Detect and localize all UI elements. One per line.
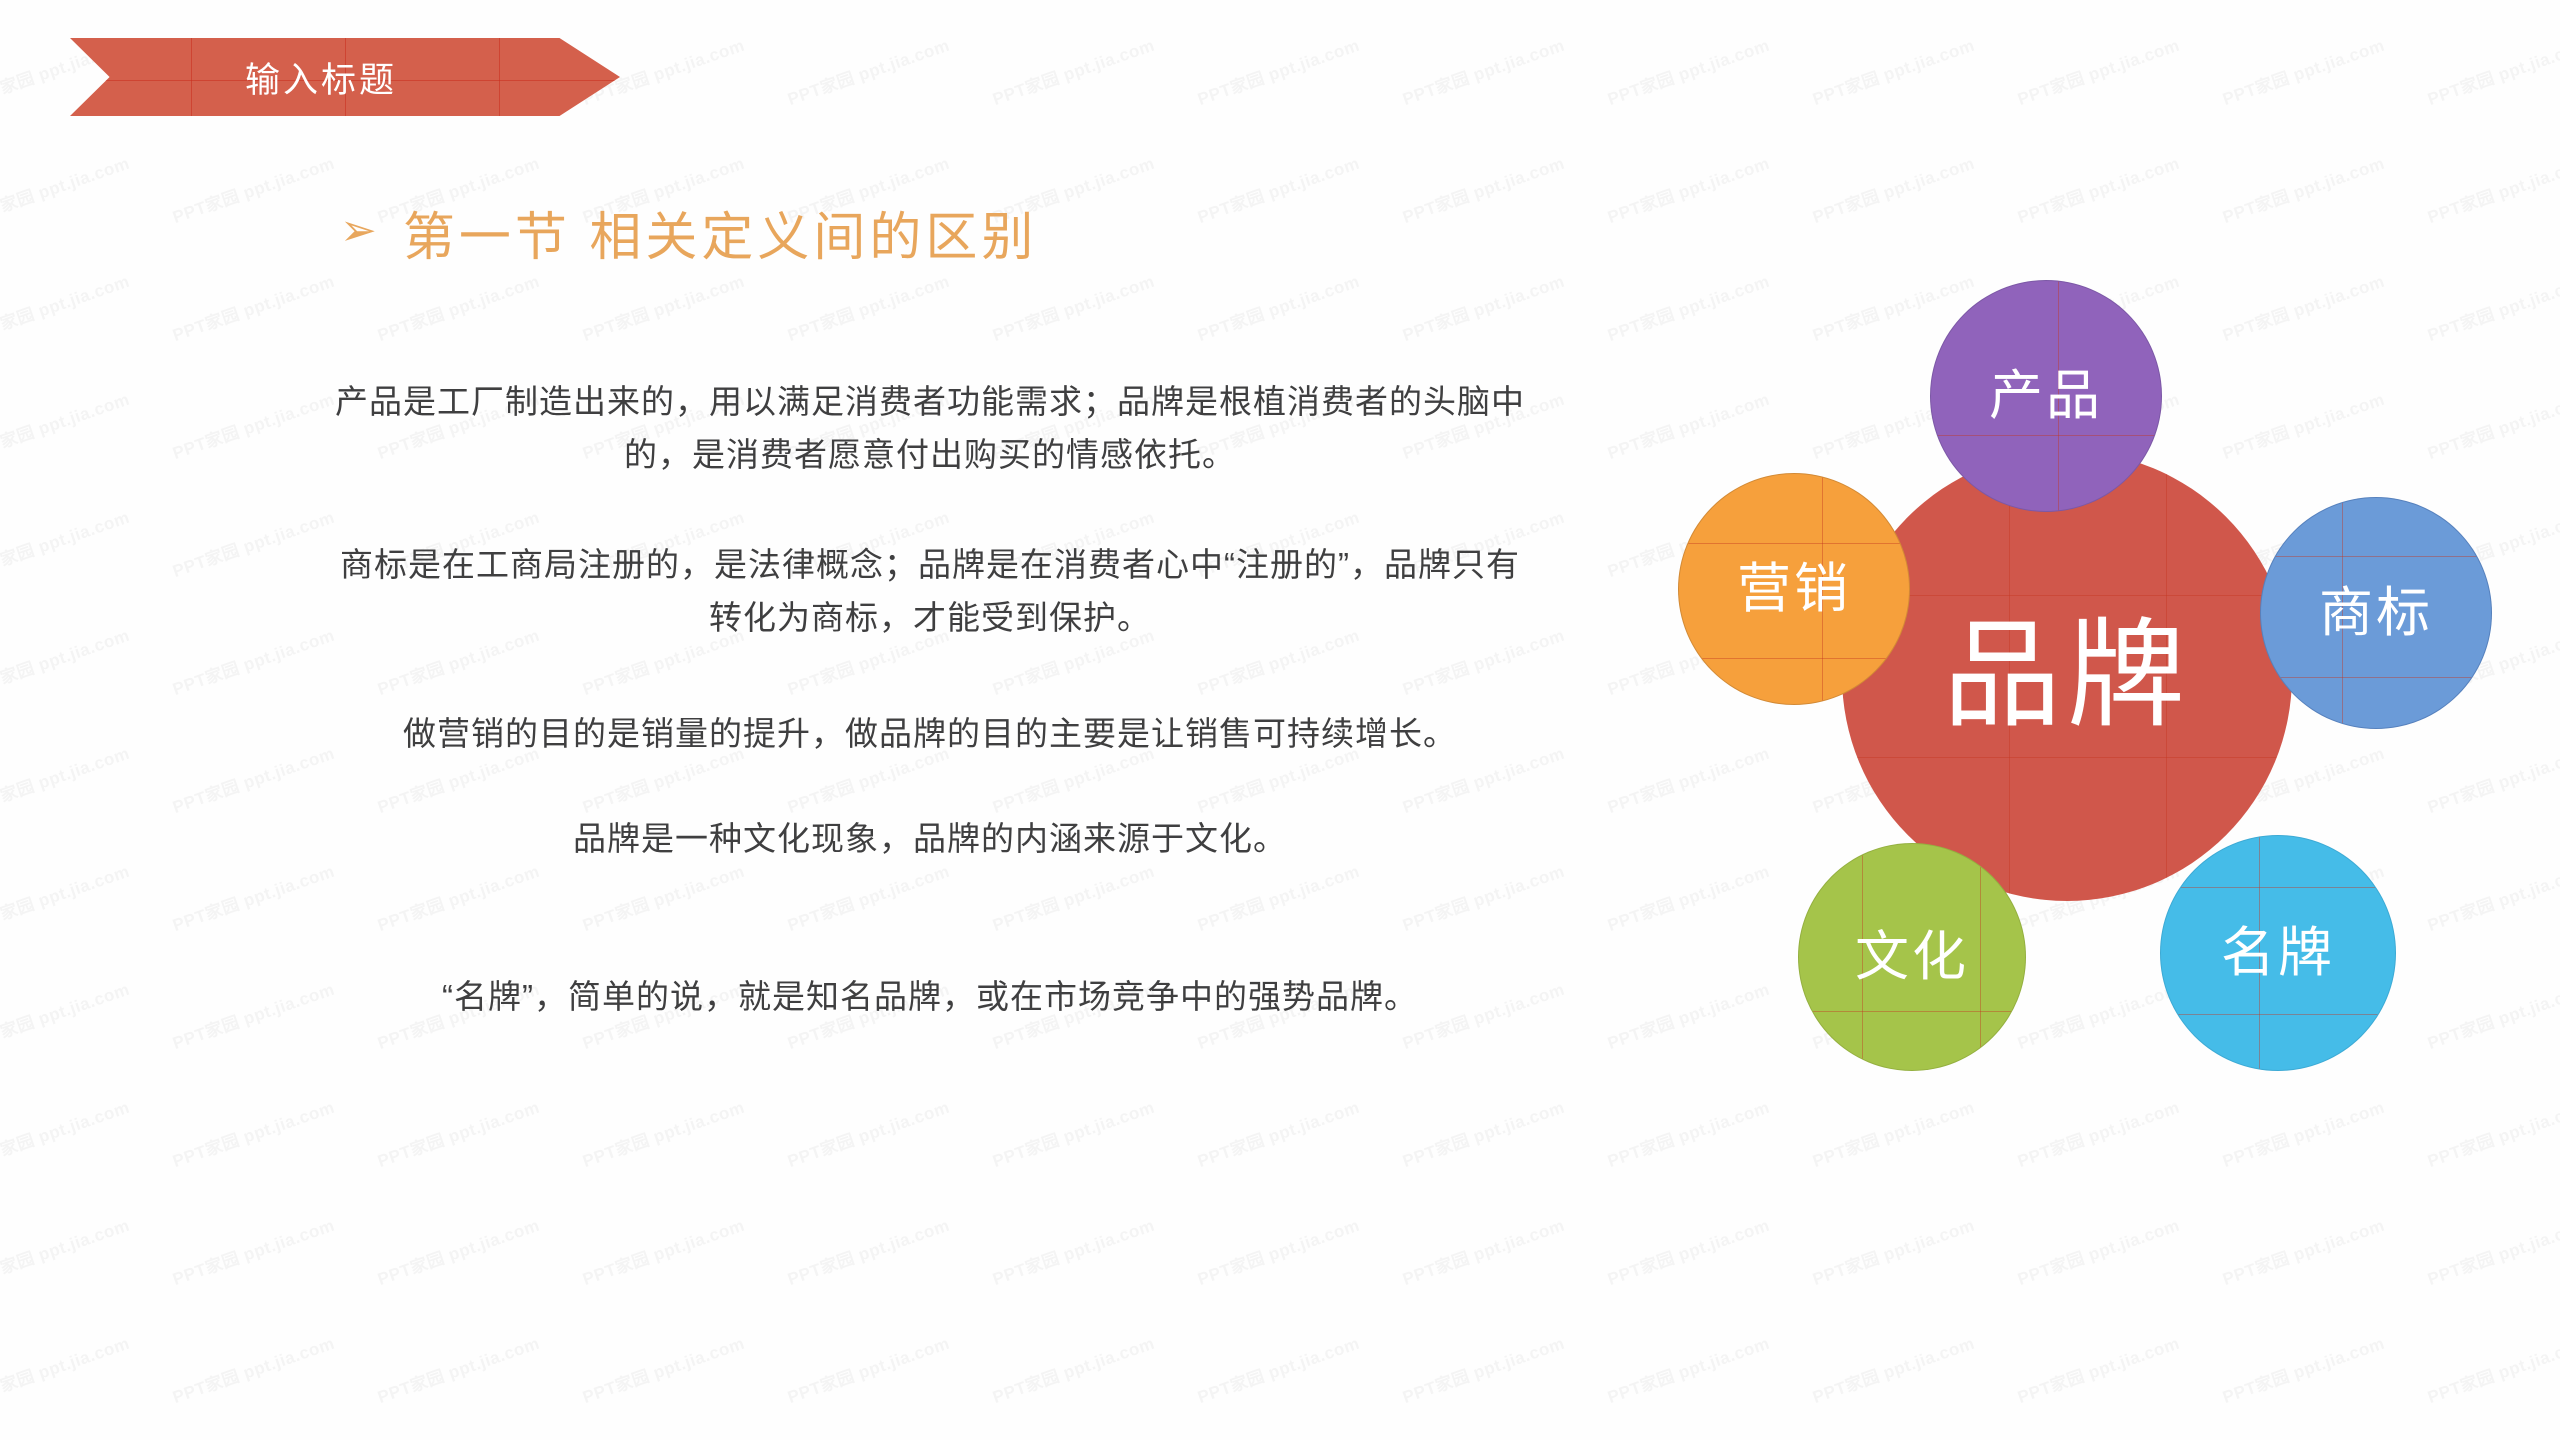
watermark-text: PPT家园 ppt.jia.com — [1603, 31, 1772, 110]
watermark-text: PPT家园 ppt.jia.com — [1398, 31, 1567, 110]
watermark-text: PPT家园 ppt.jia.com — [0, 385, 132, 464]
watermark-text: PPT家园 ppt.jia.com — [0, 149, 132, 228]
watermark-text: PPT家园 ppt.jia.com — [168, 503, 337, 582]
watermark-text: PPT家园 ppt.jia.com — [1193, 1093, 1362, 1172]
watermark-text: PPT家园 ppt.jia.com — [373, 1329, 542, 1408]
watermark-text: PPT家园 ppt.jia.com — [1398, 1211, 1567, 1290]
bubble-label-marketing: 营销 — [1737, 562, 1851, 616]
bubble-label-culture: 文化 — [1855, 930, 1969, 984]
watermark-text: PPT家园 ppt.jia.com — [168, 385, 337, 464]
watermark-text: PPT家园 ppt.jia.com — [1193, 149, 1362, 228]
watermark-text: PPT家园 ppt.jia.com — [1398, 1329, 1567, 1408]
paragraph-3: 做营销的目的是销量的提升，做品牌的目的主要是让销售可持续增长。 — [330, 707, 1530, 760]
watermark-text: PPT家园 ppt.jia.com — [2013, 31, 2182, 110]
watermark-text: PPT家园 ppt.jia.com — [2423, 31, 2560, 110]
watermark-text: PPT家园 ppt.jia.com — [0, 975, 132, 1054]
watermark-text: PPT家园 ppt.jia.com — [783, 267, 952, 346]
watermark-text: PPT家园 ppt.jia.com — [988, 1211, 1157, 1290]
watermark-text: PPT家园 ppt.jia.com — [2013, 1211, 2182, 1290]
watermark-text: PPT家园 ppt.jia.com — [168, 975, 337, 1054]
watermark-text: PPT家园 ppt.jia.com — [168, 267, 337, 346]
watermark-text: PPT家园 ppt.jia.com — [578, 1329, 747, 1408]
watermark-text: PPT家园 ppt.jia.com — [578, 1211, 747, 1290]
slide-canvas: 输入标题 ➢ 第一节 相关定义间的区别 产品是工厂制造出来的，用以满足消费者功能… — [0, 0, 2560, 1440]
paragraph-2: 商标是在工商局注册的，是法律概念；品牌是在消费者心中“注册的”，品牌只有转化为商… — [330, 538, 1530, 645]
watermark-text: PPT家园 ppt.jia.com — [0, 739, 132, 818]
brand-bubble-diagram: 品牌 产品 商标 名牌 文化 — [1620, 255, 2500, 1155]
bubble-label-brand: 品牌 — [1943, 617, 2191, 735]
watermark-text: PPT家园 ppt.jia.com — [2013, 149, 2182, 228]
watermark-text: PPT家园 ppt.jia.com — [168, 857, 337, 936]
watermark-text: PPT家园 ppt.jia.com — [168, 149, 337, 228]
bubble-trademark: 商标 — [2260, 497, 2492, 729]
watermark-text: PPT家园 ppt.jia.com — [1808, 149, 1977, 228]
watermark-text: PPT家园 ppt.jia.com — [1398, 149, 1567, 228]
watermark-text: PPT家园 ppt.jia.com — [168, 1329, 337, 1408]
bubble-label-product: 产品 — [1989, 369, 2103, 423]
watermark-text: PPT家园 ppt.jia.com — [1808, 1329, 1977, 1408]
watermark-text: PPT家园 ppt.jia.com — [373, 1093, 542, 1172]
watermark-text: PPT家园 ppt.jia.com — [1398, 1093, 1567, 1172]
watermark-text: PPT家园 ppt.jia.com — [988, 31, 1157, 110]
watermark-text: PPT家园 ppt.jia.com — [168, 739, 337, 818]
body-copy: 产品是工厂制造出来的，用以满足消费者功能需求；品牌是根植消费者的头脑中的，是消费… — [330, 375, 1530, 1023]
bubble-center-brand: 品牌 — [1842, 451, 2292, 901]
watermark-text: PPT家园 ppt.jia.com — [988, 1093, 1157, 1172]
bubble-marketing: 营销 — [1678, 473, 1910, 705]
watermark-text: PPT家园 ppt.jia.com — [0, 857, 132, 936]
watermark-text: PPT家园 ppt.jia.com — [1193, 267, 1362, 346]
watermark-text: PPT家园 ppt.jia.com — [373, 1211, 542, 1290]
watermark-text: PPT家园 ppt.jia.com — [2423, 1329, 2560, 1408]
watermark-text: PPT家园 ppt.jia.com — [1808, 31, 1977, 110]
watermark-text: PPT家园 ppt.jia.com — [2218, 1211, 2387, 1290]
watermark-text: PPT家园 ppt.jia.com — [168, 621, 337, 700]
bubble-culture: 文化 — [1798, 843, 2026, 1071]
watermark-text: PPT家园 ppt.jia.com — [1193, 1211, 1362, 1290]
watermark-text: PPT家园 ppt.jia.com — [2218, 149, 2387, 228]
bubble-label-famous-brand: 名牌 — [2221, 926, 2335, 980]
header-banner: 输入标题 — [70, 38, 620, 116]
watermark-text: PPT家园 ppt.jia.com — [0, 1329, 132, 1408]
arrow-bullet-icon: ➢ — [340, 209, 377, 253]
watermark-text: PPT家园 ppt.jia.com — [783, 1093, 952, 1172]
bubble-famous-brand: 名牌 — [2160, 835, 2396, 1071]
watermark-text: PPT家园 ppt.jia.com — [783, 1211, 952, 1290]
watermark-text: PPT家园 ppt.jia.com — [373, 267, 542, 346]
section-heading: ➢ 第一节 相关定义间的区别 — [340, 195, 1037, 270]
watermark-text: PPT家园 ppt.jia.com — [2218, 31, 2387, 110]
bubble-product: 产品 — [1930, 280, 2162, 512]
watermark-text: PPT家园 ppt.jia.com — [2218, 1329, 2387, 1408]
watermark-text: PPT家园 ppt.jia.com — [1603, 1329, 1772, 1408]
watermark-text: PPT家园 ppt.jia.com — [1398, 267, 1567, 346]
watermark-text: PPT家园 ppt.jia.com — [0, 267, 132, 346]
watermark-text: PPT家园 ppt.jia.com — [988, 1329, 1157, 1408]
bubble-label-trademark: 商标 — [2319, 586, 2433, 640]
watermark-text: PPT家园 ppt.jia.com — [2013, 1329, 2182, 1408]
watermark-text: PPT家园 ppt.jia.com — [1193, 31, 1362, 110]
watermark-text: PPT家园 ppt.jia.com — [1193, 1329, 1362, 1408]
watermark-text: PPT家园 ppt.jia.com — [0, 503, 132, 582]
watermark-text: PPT家园 ppt.jia.com — [0, 1211, 132, 1290]
banner-title: 输入标题 — [70, 38, 620, 116]
paragraph-1: 产品是工厂制造出来的，用以满足消费者功能需求；品牌是根植消费者的头脑中的，是消费… — [330, 375, 1530, 482]
watermark-text: PPT家园 ppt.jia.com — [578, 1093, 747, 1172]
watermark-text: PPT家园 ppt.jia.com — [0, 621, 132, 700]
paragraph-4: 品牌是一种文化现象，品牌的内涵来源于文化。 — [330, 812, 1530, 865]
watermark-text: PPT家园 ppt.jia.com — [2423, 149, 2560, 228]
watermark-text: PPT家园 ppt.jia.com — [578, 267, 747, 346]
watermark-text: PPT家园 ppt.jia.com — [1603, 1211, 1772, 1290]
watermark-text: PPT家园 ppt.jia.com — [0, 1093, 132, 1172]
watermark-text: PPT家园 ppt.jia.com — [783, 31, 952, 110]
watermark-text: PPT家园 ppt.jia.com — [1603, 149, 1772, 228]
page-title: 第一节 相关定义间的区别 — [403, 195, 1037, 270]
paragraph-5: “名牌”，简单的说，就是知名品牌，或在市场竞争中的强势品牌。 — [330, 970, 1530, 1023]
watermark-text: PPT家园 ppt.jia.com — [783, 1329, 952, 1408]
watermark-text: PPT家园 ppt.jia.com — [168, 1211, 337, 1290]
watermark-text: PPT家园 ppt.jia.com — [988, 267, 1157, 346]
watermark-text: PPT家园 ppt.jia.com — [168, 1093, 337, 1172]
watermark-text: PPT家园 ppt.jia.com — [2423, 1211, 2560, 1290]
watermark-text: PPT家园 ppt.jia.com — [1808, 1211, 1977, 1290]
